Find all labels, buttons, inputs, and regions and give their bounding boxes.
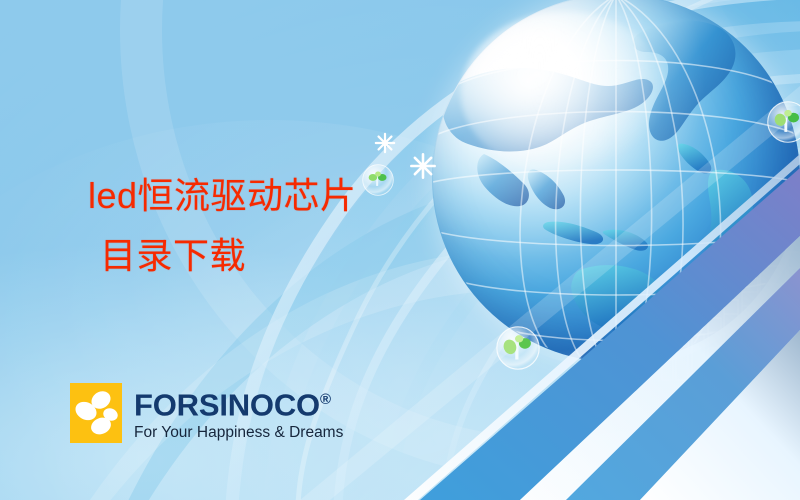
- eight-point-sparkle-icon: [409, 152, 437, 180]
- promo-banner: led恒流驱动芯片 目录下载 FORSINOCO® For Your Happi…: [0, 0, 800, 500]
- eight-point-sparkle-icon: [374, 132, 396, 154]
- registered-trademark-mark: ®: [320, 391, 331, 408]
- bubble-with-sprout-icon: [766, 100, 800, 144]
- brand-lockup: FORSINOCO® For Your Happiness & Dreams: [70, 383, 343, 443]
- brand-name-text: FORSINOCO: [134, 387, 320, 422]
- bubble-with-sprout-icon: [495, 325, 541, 371]
- brand-text-block: FORSINOCO® For Your Happiness & Dreams: [134, 383, 343, 443]
- page-title: led恒流驱动芯片 目录下载: [88, 166, 357, 286]
- headline-line-1: led恒流驱动芯片: [88, 175, 357, 216]
- four-petal-pinwheel-icon: [70, 383, 122, 443]
- bubble-with-sprout-icon: [361, 163, 395, 197]
- brand-tagline: For Your Happiness & Dreams: [134, 423, 343, 443]
- headline-line-2: 目录下载: [88, 226, 357, 286]
- brand-name: FORSINOCO®: [134, 384, 343, 421]
